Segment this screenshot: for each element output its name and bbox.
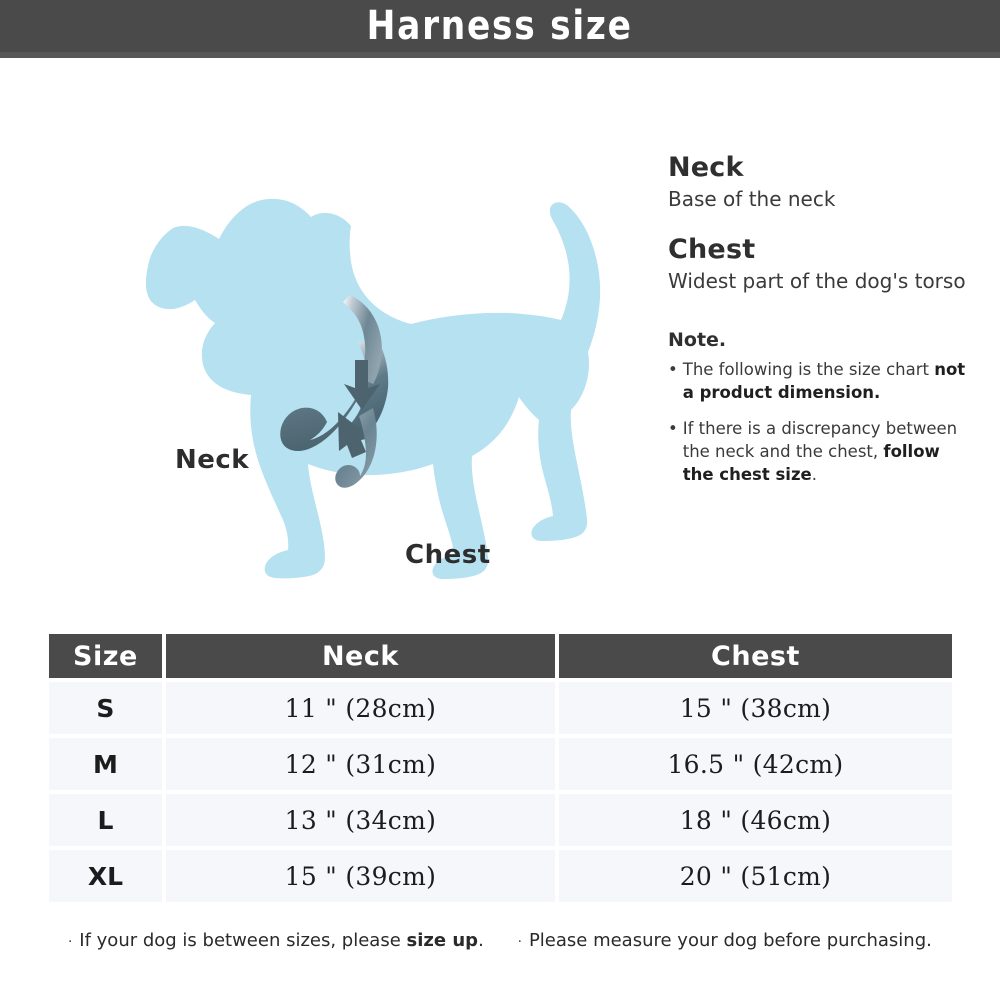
table-header-row: Size Neck Chest bbox=[49, 634, 952, 678]
table-row: S 11 " (28cm) 15 " (38cm) bbox=[49, 682, 952, 734]
footer-text-plain: If your dog is between sizes, please bbox=[79, 930, 406, 951]
cell-chest: 18 " (46cm) bbox=[559, 794, 952, 846]
note-block: Note. • The following is the size chart … bbox=[668, 329, 968, 487]
cell-chest: 20 " (51cm) bbox=[559, 850, 952, 902]
table-row: L 13 " (34cm) 18 " (46cm) bbox=[49, 794, 952, 846]
note-item: • The following is the size chart not a … bbox=[668, 358, 968, 405]
bullet-glyph: · bbox=[68, 935, 72, 950]
note-text: The following is the size chart not a pr… bbox=[683, 358, 968, 405]
bullet-glyph: • bbox=[668, 358, 678, 405]
bullet-glyph: • bbox=[668, 417, 678, 487]
page-title: Harness size bbox=[367, 3, 633, 49]
cell-size: S bbox=[49, 682, 162, 734]
cell-size: M bbox=[49, 738, 162, 790]
dog-illustration: Neck Chest bbox=[55, 120, 635, 580]
footer-text: If your dog is between sizes, please siz… bbox=[79, 930, 484, 951]
bullet-glyph: · bbox=[518, 935, 522, 950]
note-text-plain: The following is the size chart bbox=[683, 360, 934, 379]
cell-chest: 16.5 " (42cm) bbox=[559, 738, 952, 790]
column-header-neck: Neck bbox=[166, 634, 555, 678]
footer-text-plain-tail: . bbox=[478, 930, 484, 951]
note-text: If there is a discrepancy between the ne… bbox=[683, 417, 968, 487]
size-chart-table: Size Neck Chest S 11 " (28cm) 15 " (38cm… bbox=[45, 630, 956, 906]
table-row: XL 15 " (39cm) 20 " (51cm) bbox=[49, 850, 952, 902]
illustration-label-neck: Neck bbox=[175, 445, 249, 475]
cell-size: L bbox=[49, 794, 162, 846]
footer-item: · If your dog is between sizes, please s… bbox=[68, 930, 484, 951]
measurement-info-panel: Neck Base of the neck Chest Widest part … bbox=[668, 152, 968, 499]
cell-neck: 12 " (31cm) bbox=[166, 738, 555, 790]
note-item: • If there is a discrepancy between the … bbox=[668, 417, 968, 487]
info-desc-chest: Widest part of the dog's torso bbox=[668, 268, 968, 294]
footer-item: · Please measure your dog before purchas… bbox=[518, 930, 932, 951]
info-heading-neck: Neck bbox=[668, 152, 968, 183]
cell-neck: 13 " (34cm) bbox=[166, 794, 555, 846]
column-header-size: Size bbox=[49, 634, 162, 678]
footer-text: Please measure your dog before purchasin… bbox=[529, 930, 932, 951]
footer-text-bold: size up bbox=[407, 930, 479, 951]
illustration-label-chest: Chest bbox=[405, 540, 491, 570]
column-header-chest: Chest bbox=[559, 634, 952, 678]
info-desc-neck: Base of the neck bbox=[668, 186, 968, 212]
header-underline bbox=[0, 52, 1000, 58]
cell-neck: 15 " (39cm) bbox=[166, 850, 555, 902]
note-text-plain-tail: . bbox=[812, 465, 817, 484]
cell-size: XL bbox=[49, 850, 162, 902]
info-heading-chest: Chest bbox=[668, 234, 968, 265]
cell-chest: 15 " (38cm) bbox=[559, 682, 952, 734]
footer-text-plain: Please measure your dog before purchasin… bbox=[529, 930, 932, 951]
note-title: Note. bbox=[668, 329, 968, 351]
table-row: M 12 " (31cm) 16.5 " (42cm) bbox=[49, 738, 952, 790]
page-header: Harness size bbox=[0, 0, 1000, 52]
footer-notes: · If your dog is between sizes, please s… bbox=[0, 930, 1000, 951]
cell-neck: 11 " (28cm) bbox=[166, 682, 555, 734]
